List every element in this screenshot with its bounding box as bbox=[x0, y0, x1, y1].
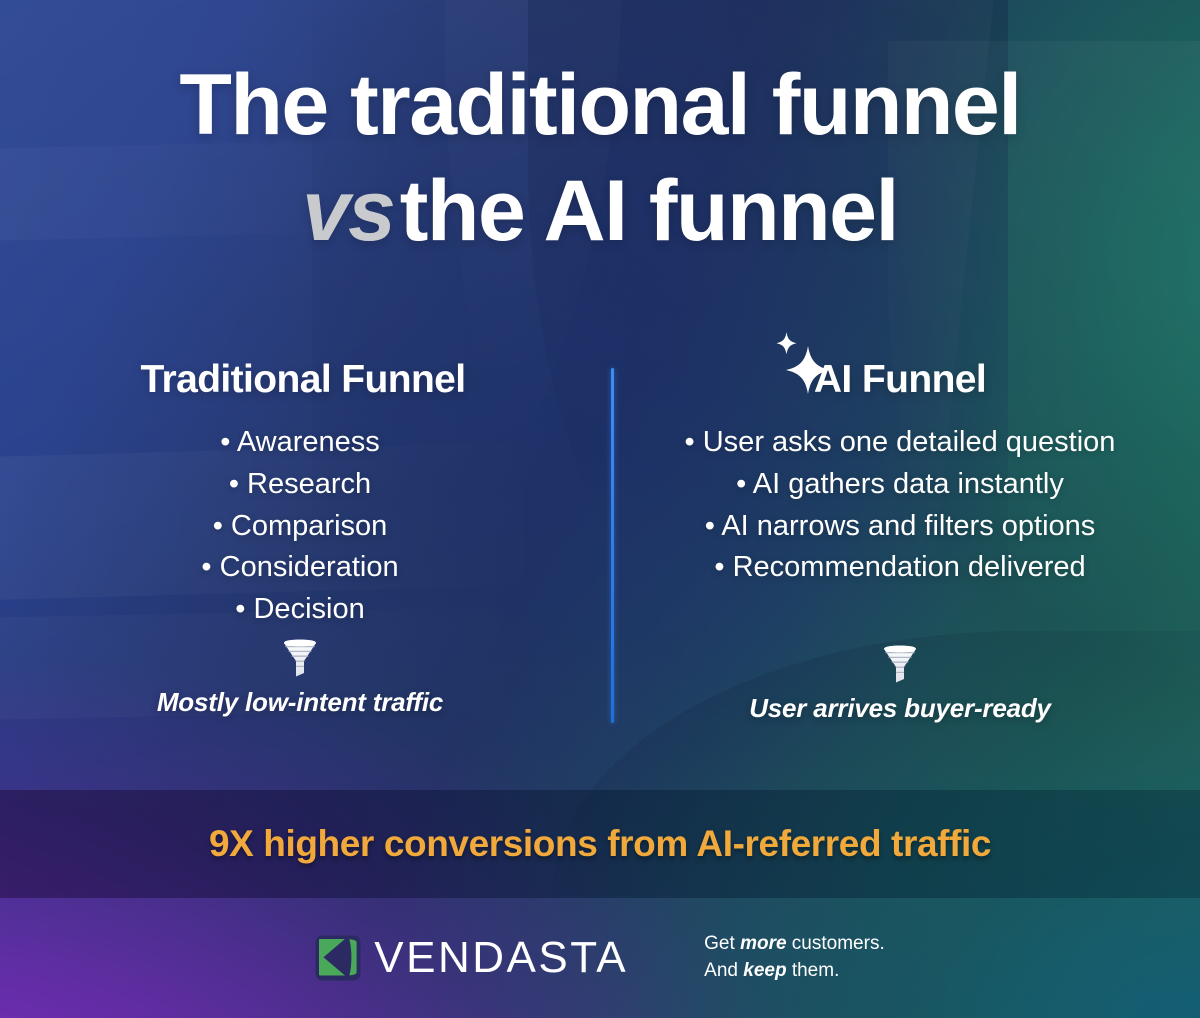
list-item: • Comparison bbox=[0, 506, 600, 548]
list-item: • Awareness bbox=[0, 422, 600, 464]
traditional-funnel-list: • Awareness • Research • Comparison • Co… bbox=[0, 422, 600, 631]
column-traditional-funnel: Traditional Funnel • Awareness • Researc… bbox=[0, 358, 600, 738]
stat-banner-text: 9X higher conversions from AI-referred t… bbox=[209, 823, 991, 865]
infographic-poster: The traditional funnel vsthe AI funnel T… bbox=[0, 0, 1200, 1018]
headline: The traditional funnel vsthe AI funnel bbox=[0, 62, 1200, 254]
outcome-text-traditional: Mostly low-intent traffic bbox=[0, 687, 600, 718]
comparison-columns: Traditional Funnel • Awareness • Researc… bbox=[0, 358, 1200, 738]
list-item: • AI gathers data instantly bbox=[600, 464, 1200, 506]
footer-tagline-line-1: Get more customers. bbox=[704, 931, 885, 958]
headline-vs: vs bbox=[302, 163, 394, 259]
list-item: • Consideration bbox=[0, 547, 600, 589]
ai-funnel-list: • User asks one detailed question • AI g… bbox=[600, 422, 1200, 589]
list-item: • Research bbox=[0, 464, 600, 506]
stat-banner: 9X higher conversions from AI-referred t… bbox=[0, 790, 1200, 898]
tagline-1-pre: Get bbox=[704, 933, 740, 954]
column-title-ai: AI Funnel bbox=[814, 358, 986, 402]
funnel-icon-wrap-left bbox=[0, 639, 600, 681]
vendasta-logo-wordmark: VENDASTA bbox=[374, 933, 628, 983]
list-item: • Decision bbox=[0, 589, 600, 631]
footer-tagline: Get more customers. And keep them. bbox=[704, 931, 885, 985]
headline-line-2: vsthe AI funnel bbox=[0, 168, 1200, 254]
funnel-icon bbox=[282, 639, 318, 677]
list-item: • AI narrows and filters options bbox=[600, 506, 1200, 548]
tagline-1-bold: more bbox=[740, 933, 786, 954]
tagline-2-pre: And bbox=[704, 960, 743, 981]
outcome-text-ai: User arrives buyer-ready bbox=[600, 693, 1200, 724]
list-item: • Recommendation delivered bbox=[600, 547, 1200, 589]
column-divider bbox=[611, 368, 614, 723]
footer-tagline-line-2: And keep them. bbox=[704, 958, 885, 985]
tagline-2-bold: keep bbox=[743, 960, 786, 981]
column-title-ai-text: AI Funnel bbox=[814, 358, 986, 401]
funnel-icon-wrap-right bbox=[600, 645, 1200, 687]
tagline-1-post: customers. bbox=[787, 933, 885, 954]
column-ai-funnel: AI Funnel • User asks one detailed quest… bbox=[600, 358, 1200, 738]
headline-line-1: The traditional funnel bbox=[0, 62, 1200, 148]
list-item: • User asks one detailed question bbox=[600, 422, 1200, 464]
vendasta-logo: VENDASTA bbox=[315, 933, 628, 983]
headline-line-2-text: the AI funnel bbox=[400, 163, 898, 259]
vendasta-logo-mark-icon bbox=[315, 935, 361, 981]
tagline-2-post: them. bbox=[787, 960, 840, 981]
footer: VENDASTA Get more customers. And keep th… bbox=[0, 898, 1200, 1018]
funnel-icon bbox=[882, 645, 918, 683]
column-title-traditional: Traditional Funnel bbox=[140, 358, 465, 402]
